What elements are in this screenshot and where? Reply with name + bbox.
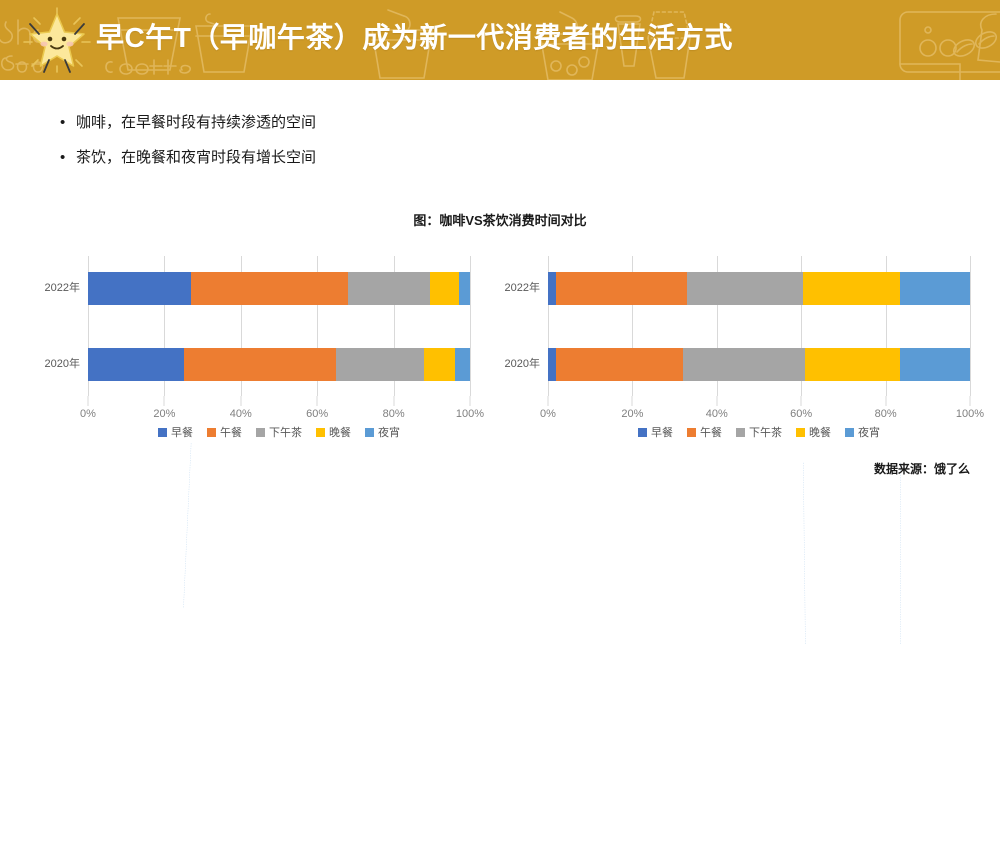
- slide: 早C午T（早咖午茶）成为新一代消费者的生活方式 • 咖啡，在早餐时段有持续渗透的…: [0, 0, 1000, 562]
- bar-segment-午餐[interactable]: [556, 272, 687, 305]
- bullet-item: • 茶饮，在晚餐和夜宵时段有增长空间: [60, 147, 760, 170]
- legend-label: 午餐: [700, 424, 722, 440]
- x-tick-label: 0%: [540, 408, 556, 420]
- bar-segment-晚餐[interactable]: [424, 348, 455, 381]
- x-tick-label: 100%: [956, 408, 984, 420]
- legend-label: 夜宵: [858, 424, 880, 440]
- bar-segment-早餐[interactable]: [88, 348, 184, 381]
- legend-swatch-icon: [316, 428, 325, 437]
- x-tick-mark: [716, 396, 717, 406]
- legend-swatch-icon: [736, 428, 745, 437]
- bar-segment-晚餐[interactable]: [803, 272, 900, 305]
- bar-segment-午餐[interactable]: [184, 348, 337, 381]
- x-tick-label: 20%: [621, 408, 643, 420]
- legend-item-早餐[interactable]: 早餐: [638, 424, 673, 440]
- x-tick-label: 80%: [383, 408, 405, 420]
- chart-coffee: 2022年 2020年 0%20%40%60%80%100% 早餐午餐下午茶晚餐…: [30, 248, 480, 448]
- legend-item-晚餐[interactable]: 晚餐: [316, 424, 351, 440]
- chart-coffee-bar-2020: 2020年: [88, 348, 470, 381]
- x-tick-mark: [632, 396, 633, 406]
- x-tick-mark: [88, 396, 89, 406]
- connector-line: [803, 463, 805, 644]
- chart-coffee-plot-area: 2022年 2020年: [88, 256, 470, 396]
- legend-label: 早餐: [651, 424, 673, 440]
- legend-label: 下午茶: [749, 424, 782, 440]
- legend-label: 晚餐: [329, 424, 351, 440]
- bar-segment-夜宵[interactable]: [900, 272, 970, 305]
- x-tick-mark: [548, 396, 549, 406]
- x-tick-label: 20%: [153, 408, 175, 420]
- legend-item-午餐[interactable]: 午餐: [687, 424, 722, 440]
- legend-item-夜宵[interactable]: 夜宵: [365, 424, 400, 440]
- x-tick-mark: [970, 396, 971, 406]
- header-banner: 早C午T（早咖午茶）成为新一代消费者的生活方式: [0, 0, 1000, 80]
- bar-segment-午餐[interactable]: [556, 348, 683, 381]
- x-tick-mark: [317, 396, 318, 406]
- bullet-text: 茶饮，在晚餐和夜宵时段有增长空间: [76, 147, 760, 170]
- x-tick-mark: [164, 396, 165, 406]
- x-tick-mark: [885, 396, 886, 406]
- legend-swatch-icon: [365, 428, 374, 437]
- legend-item-下午茶[interactable]: 下午茶: [736, 424, 782, 440]
- bar-segment-夜宵[interactable]: [459, 272, 470, 305]
- legend-item-早餐[interactable]: 早餐: [158, 424, 193, 440]
- legend-label: 夜宵: [378, 424, 400, 440]
- legend-label: 午餐: [220, 424, 242, 440]
- chart-tea-plot-area: 2022年 2020年: [548, 256, 970, 396]
- category-label-2020年: 2020年: [45, 348, 80, 381]
- chart-coffee-legend: 早餐午餐下午茶晚餐夜宵: [88, 424, 470, 440]
- legend-label: 晚餐: [809, 424, 831, 440]
- page-title: 早C午T（早咖午茶）成为新一代消费者的生活方式: [96, 16, 733, 56]
- x-tick-label: 40%: [230, 408, 252, 420]
- bar-segment-早餐[interactable]: [548, 348, 556, 381]
- legend-swatch-icon: [256, 428, 265, 437]
- x-tick-label: 80%: [875, 408, 897, 420]
- chart-tea: 2022年 2020年 0%20%40%60%80%100% 早餐午餐下午茶晚餐…: [490, 248, 980, 448]
- bar-segment-晚餐[interactable]: [430, 272, 459, 305]
- bar-segment-下午茶[interactable]: [687, 272, 803, 305]
- chart-tea-bar-2022: 2022年: [548, 272, 970, 305]
- bar-segment-午餐[interactable]: [191, 272, 348, 305]
- chart-tea-legend: 早餐午餐下午茶晚餐夜宵: [548, 424, 970, 440]
- legend-item-午餐[interactable]: 午餐: [207, 424, 242, 440]
- connector-line: [183, 443, 191, 607]
- bullet-text: 咖啡，在早餐时段有持续渗透的空间: [76, 112, 760, 135]
- bullet-marker: •: [60, 147, 76, 170]
- bar-segment-早餐[interactable]: [88, 272, 191, 305]
- bullet-marker: •: [60, 112, 76, 135]
- legend-swatch-icon: [158, 428, 167, 437]
- bar-segment-下午茶[interactable]: [336, 348, 424, 381]
- legend-label: 下午茶: [269, 424, 302, 440]
- bullet-list: • 咖啡，在早餐时段有持续渗透的空间 • 茶饮，在晚餐和夜宵时段有增长空间: [60, 112, 760, 181]
- bar-segment-早餐[interactable]: [548, 272, 556, 305]
- legend-item-晚餐[interactable]: 晚餐: [796, 424, 831, 440]
- x-tick-mark: [470, 396, 471, 406]
- star-mascot-icon: [22, 6, 92, 76]
- category-label-2022年: 2022年: [505, 272, 540, 305]
- legend-swatch-icon: [687, 428, 696, 437]
- bar-segment-晚餐[interactable]: [805, 348, 900, 381]
- category-label-2020年: 2020年: [505, 348, 540, 381]
- legend-label: 早餐: [171, 424, 193, 440]
- x-tick-mark: [801, 396, 802, 406]
- gridline: [470, 256, 471, 396]
- x-tick-label: 40%: [706, 408, 728, 420]
- x-tick-label: 100%: [456, 408, 484, 420]
- legend-swatch-icon: [638, 428, 647, 437]
- bullet-item: • 咖啡，在早餐时段有持续渗透的空间: [60, 112, 760, 135]
- category-label-2022年: 2022年: [45, 272, 80, 305]
- gridline: [970, 256, 971, 396]
- legend-swatch-icon: [796, 428, 805, 437]
- chart-coffee-bar-2022: 2022年: [88, 272, 470, 305]
- legend-item-夜宵[interactable]: 夜宵: [845, 424, 880, 440]
- bar-segment-夜宵[interactable]: [455, 348, 470, 381]
- legend-swatch-icon: [845, 428, 854, 437]
- x-tick-mark: [240, 396, 241, 406]
- bar-segment-下午茶[interactable]: [683, 348, 805, 381]
- bar-segment-夜宵[interactable]: [900, 348, 970, 381]
- chart-title: 图：咖啡VS茶饮消费时间对比: [0, 210, 1000, 229]
- x-tick-mark: [393, 396, 394, 406]
- legend-item-下午茶[interactable]: 下午茶: [256, 424, 302, 440]
- chart-tea-bar-2020: 2020年: [548, 348, 970, 381]
- x-tick-label: 60%: [306, 408, 328, 420]
- legend-swatch-icon: [207, 428, 216, 437]
- data-source-note: 数据来源：饿了么: [874, 460, 970, 477]
- x-tick-label: 60%: [790, 408, 812, 420]
- x-tick-label: 0%: [80, 408, 96, 420]
- bar-segment-下午茶[interactable]: [348, 272, 430, 305]
